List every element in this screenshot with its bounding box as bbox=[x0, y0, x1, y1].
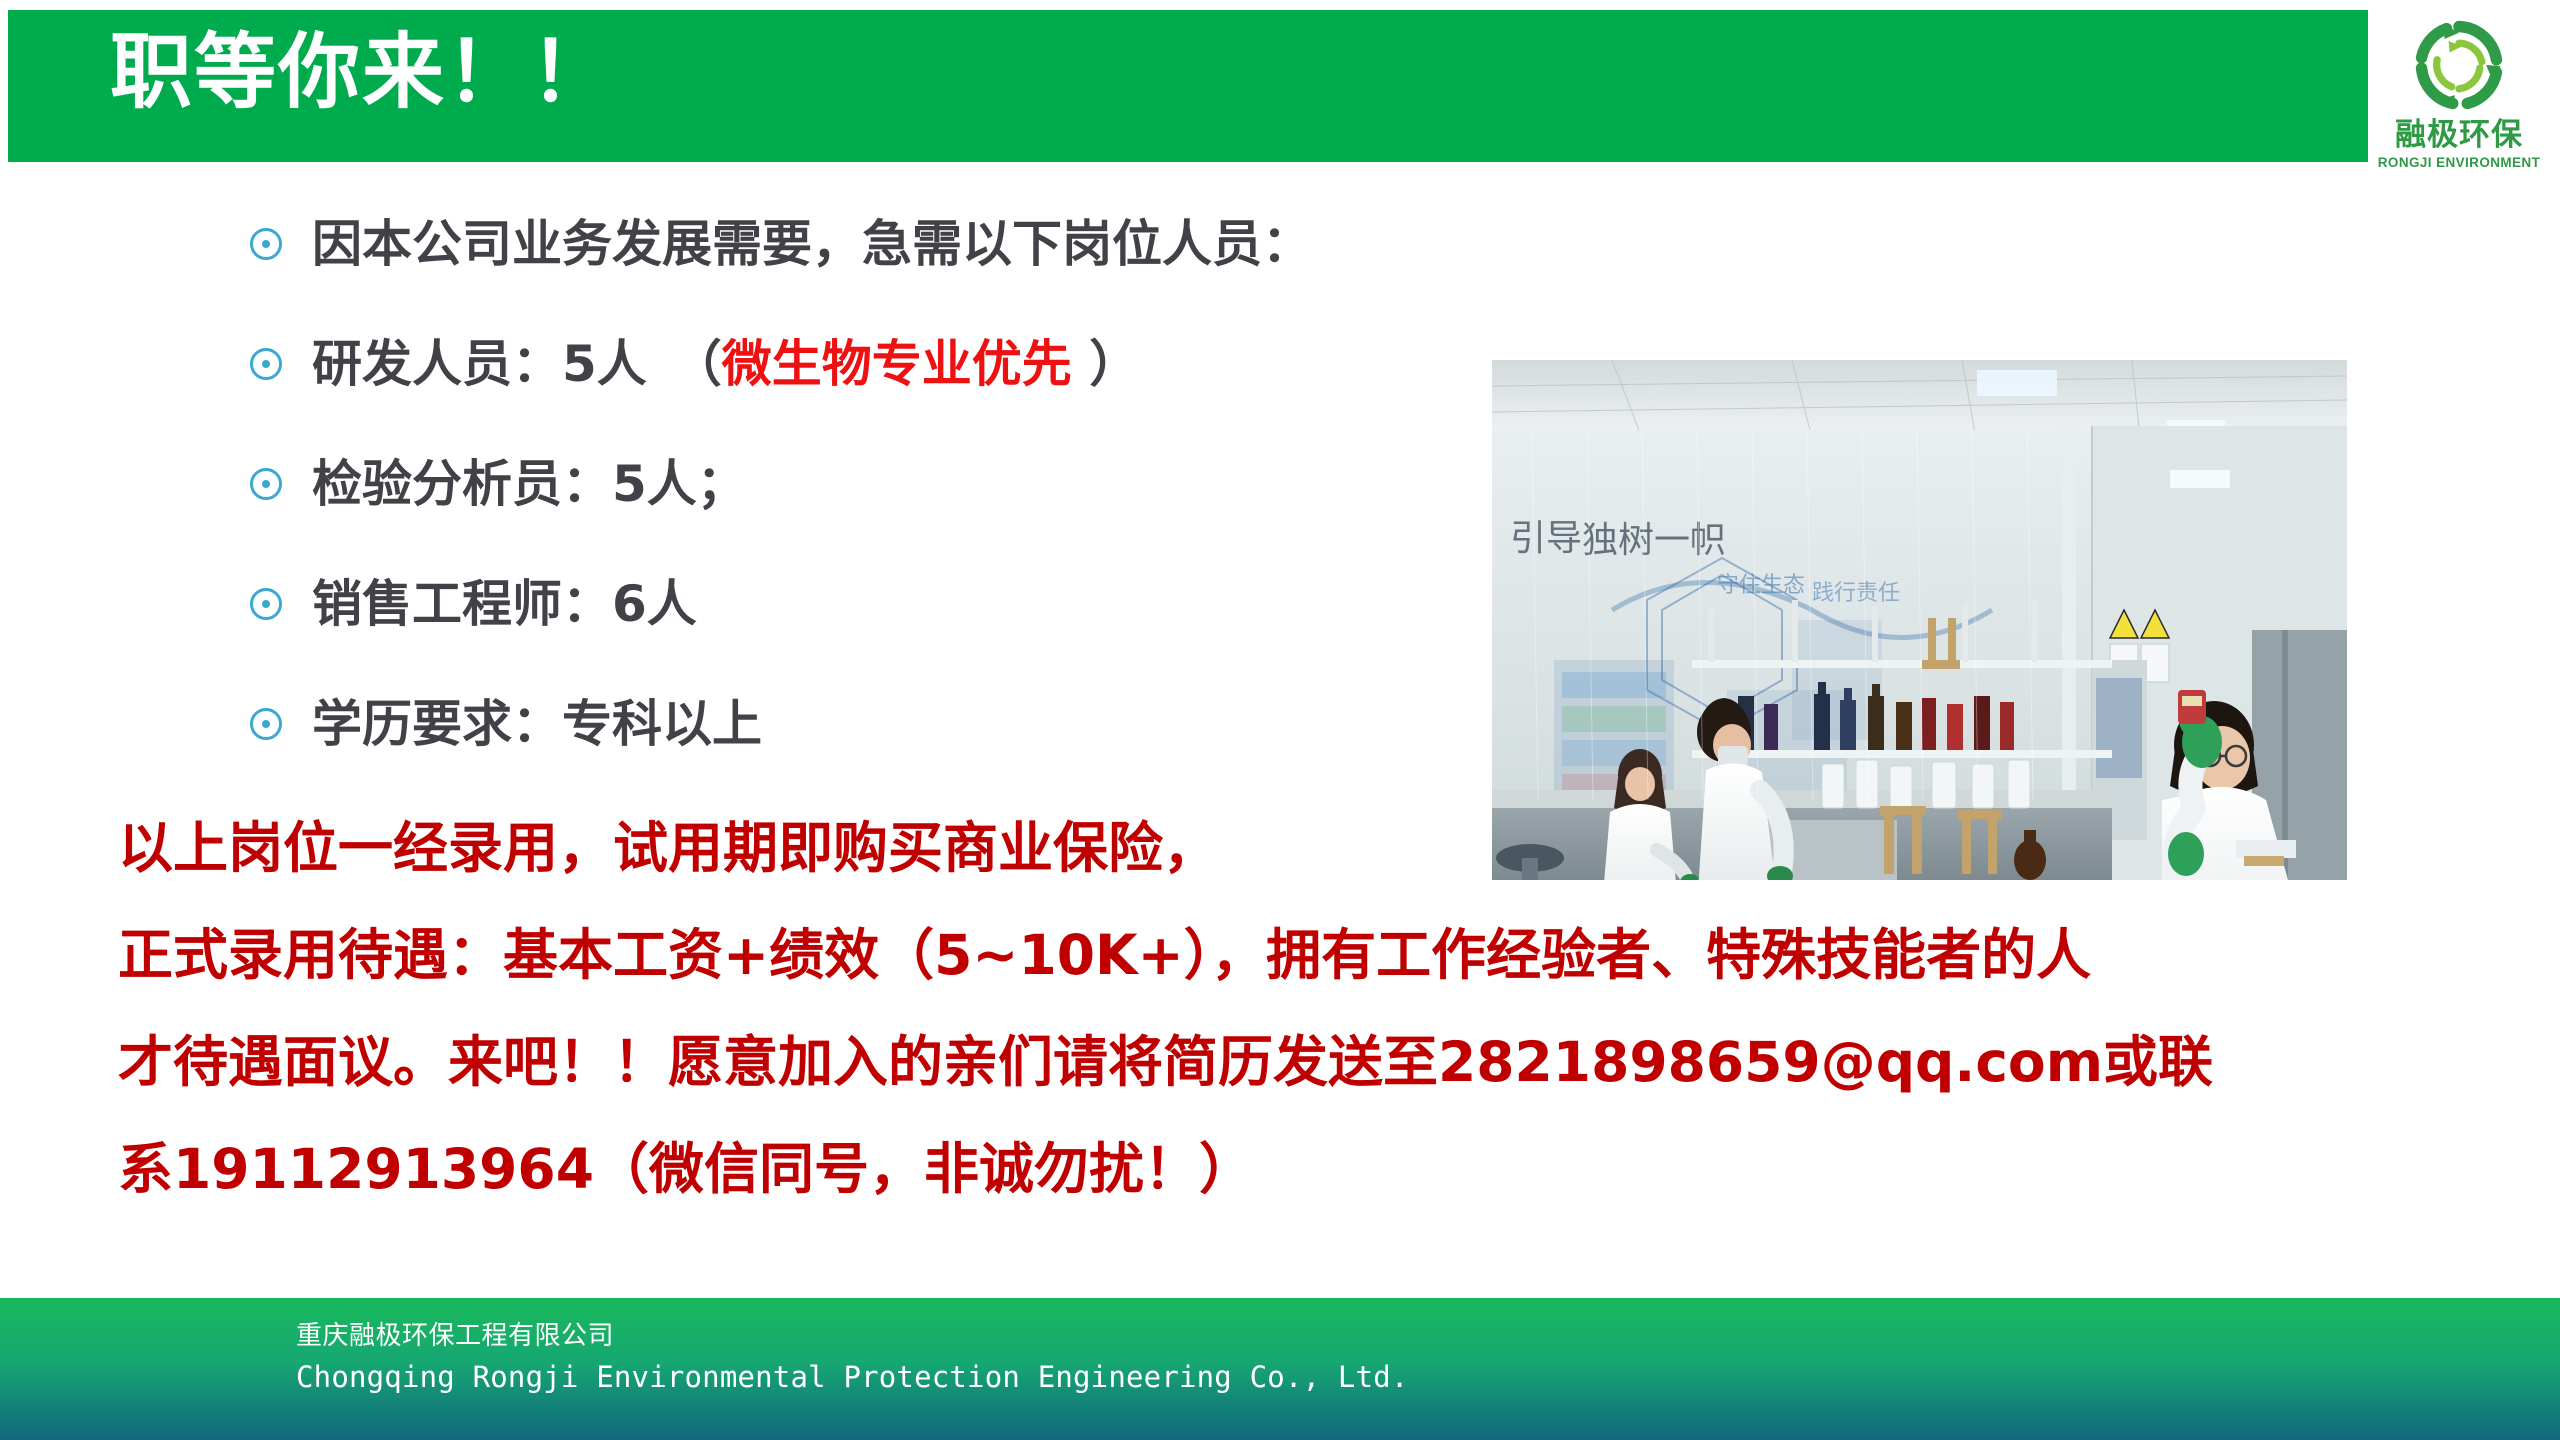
footer-company-cn: 重庆融极环保工程有限公司 bbox=[296, 1316, 1409, 1356]
recycle-circle-icon bbox=[2407, 14, 2511, 118]
svg-text:践行责任: 践行责任 bbox=[1812, 581, 1900, 606]
svg-text:引导: 引导 bbox=[1510, 518, 1582, 559]
bullet-dot-icon bbox=[250, 228, 282, 260]
bullet-dot-icon bbox=[250, 348, 282, 380]
position-rd-note: 微生物专业优先 bbox=[722, 335, 1072, 393]
bullet-dot-icon bbox=[250, 588, 282, 620]
list-item-label: 检验分析员：5人； bbox=[312, 458, 747, 511]
company-logo: 融极环保 RONGJI ENVIRONMENT bbox=[2368, 6, 2550, 184]
svg-text:守住生态: 守住生态 bbox=[1717, 573, 1805, 598]
list-item: 研发人员：5人 （微生物专业优先 ） bbox=[250, 325, 1500, 403]
recruitment-line-1: 以上岗位一经录用，试用期即购买商业保险， bbox=[118, 795, 2498, 902]
svg-text:独树一帜: 独树一帜 bbox=[1582, 520, 1726, 561]
list-item-label: 研发人员：5人 （微生物专业优先 ） bbox=[312, 338, 1139, 391]
job-positions-list: 因本公司业务发展需要，急需以下岗位人员： 研发人员：5人 （微生物专业优先 ） … bbox=[250, 205, 1500, 805]
position-rd-label: 研发人员：5人 （ bbox=[312, 335, 722, 393]
page-title: 职等你来！！ bbox=[110, 32, 614, 114]
list-item-label: 因本公司业务发展需要，急需以下岗位人员： bbox=[312, 218, 1312, 271]
bullet-dot-icon bbox=[250, 468, 282, 500]
list-item: 学历要求：专科以上 bbox=[250, 685, 1500, 763]
recruitment-line-3: 才待遇面议。来吧！！愿意加入的亲们请将简历发送至2821898659@qq.co… bbox=[118, 1009, 2498, 1116]
list-item: 销售工程师：6人 bbox=[250, 565, 1500, 643]
footer-company-en: Chongqing Rongji Environmental Protectio… bbox=[296, 1356, 1409, 1398]
footer-bar: 重庆融极环保工程有限公司 Chongqing Rongji Environmen… bbox=[0, 1298, 2560, 1440]
list-item: 检验分析员：5人； bbox=[250, 445, 1500, 523]
recruitment-line-4: 系19112913964（微信同号，非诚勿扰！） bbox=[118, 1116, 2498, 1223]
footer-company-block: 重庆融极环保工程有限公司 Chongqing Rongji Environmen… bbox=[296, 1316, 1409, 1398]
recruitment-line-2: 正式录用待遇：基本工资+绩效（5~10K+），拥有工作经验者、特殊技能者的人 bbox=[118, 902, 2498, 1009]
bullet-dot-icon bbox=[250, 708, 282, 740]
list-item-label: 学历要求：专科以上 bbox=[312, 698, 762, 751]
recruitment-details-paragraph: 以上岗位一经录用，试用期即购买商业保险， 正式录用待遇：基本工资+绩效（5~10… bbox=[118, 795, 2498, 1223]
list-item: 因本公司业务发展需要，急需以下岗位人员： bbox=[250, 205, 1500, 283]
logo-name-en: RONGJI ENVIRONMENT bbox=[2378, 155, 2540, 170]
list-item-label: 销售工程师：6人 bbox=[312, 578, 697, 631]
logo-name-cn: 融极环保 bbox=[2395, 120, 2523, 151]
position-rd-tail: ） bbox=[1072, 335, 1139, 393]
